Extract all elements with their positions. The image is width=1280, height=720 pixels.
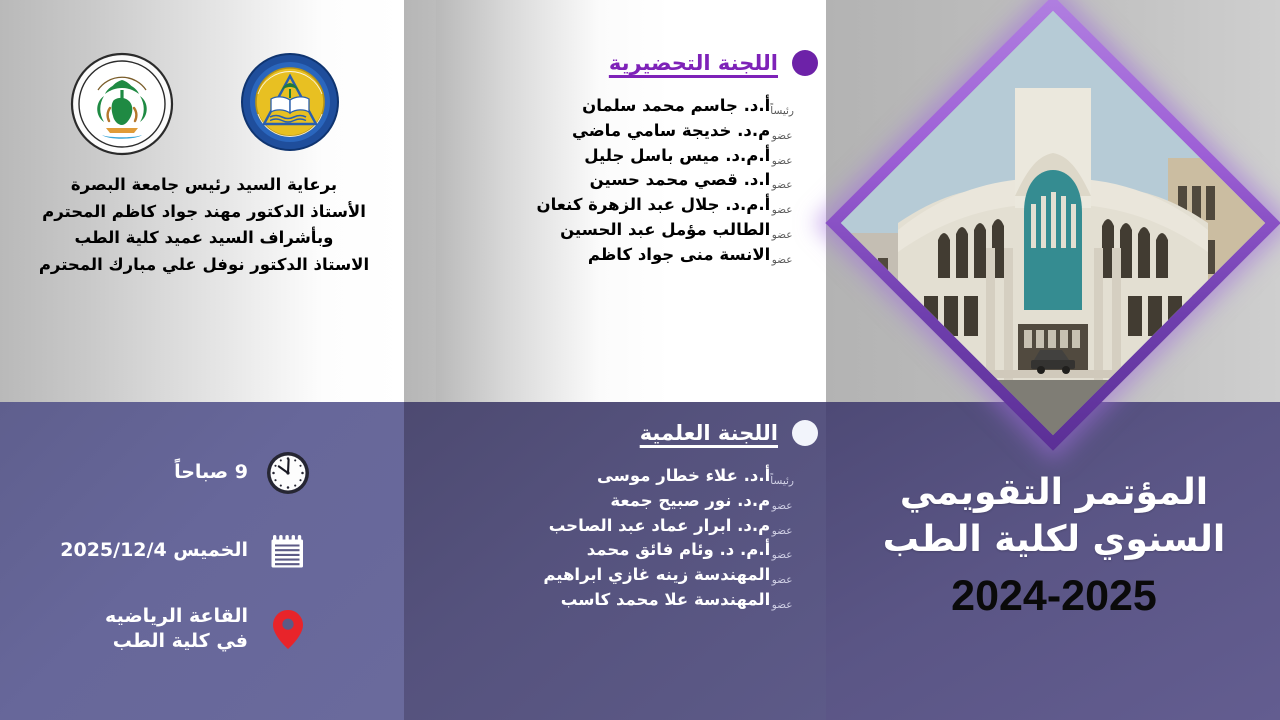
preparatory-names-column: أ.د. جاسم محمد سلمان م.د. خديجة سامي ماض… [537,94,771,267]
role-label: عضو [772,568,793,593]
conference-title-line2: السنوي لكلية الطب [836,517,1272,564]
ministry-of-higher-education-iraq-logo [68,50,176,163]
conference-academic-year: 2024-2025 [836,572,1272,621]
preparatory-committee-title: اللجنة التحضيرية [609,51,778,75]
member-name: أ.م.د. ميس باسل جليل [584,144,770,169]
member-name: ا.د. قصي محمد حسين [590,168,771,193]
member-name: أ.م. د. وئام فائق محمد [587,538,771,563]
member-name: المهندسة علا محمد كاسب [561,588,771,613]
member-name: الطالب مؤمل عبد الحسين [560,218,770,243]
role-label: عضو [772,519,793,544]
college-of-medicine-building-photo [841,11,1265,435]
role-label: عضو [772,543,793,568]
sponsor-line-4: الاستاذ الدكتور نوفل علي مبارك المحترم [8,252,400,279]
role-label: عضو [772,248,793,273]
event-time-line1: 9 صباحاً [174,461,248,483]
sponsor-line-2: الأستاذ الدكتور مهند جواد كاظم المحترم [8,199,400,226]
location-pin-icon [264,605,312,653]
university-of-basrah-logo [238,50,342,159]
scientific-committee-members: رئيساً عضو عضو عضو عضو عضو أ.د. علاء خطا… [448,464,818,618]
member-name: م.د. نور صبيح جمعة [610,489,770,514]
role-label: عضو [772,198,793,223]
hero-photo-diamond [827,0,1279,449]
sponsor-line-1: برعاية السيد رئيس جامعة البصرة [8,172,400,199]
scientific-committee-section: اللجنة العلمية رئيساً عضو عضو عضو عضو عض… [448,420,818,618]
event-date-text: الخميس 2025/12/4 [60,538,248,563]
role-label: عضو [772,223,793,248]
event-location-line1: القاعة الرياضيه [105,604,248,629]
event-time-row: 9 صباحاً [0,448,404,498]
event-location-text: القاعة الرياضيه في كلية الطب [105,604,248,655]
role-label: عضو [772,173,793,198]
event-time-text: 9 صباحاً [174,460,248,485]
event-details: 9 صباحاً [0,448,404,683]
scientific-committee-header: اللجنة العلمية [448,420,818,446]
scientific-names-column: أ.د. علاء خطار موسى م.د. نور صبيح جمعة م… [543,464,770,613]
sponsor-line-3: وبأشراف السيد عميد كلية الطب [8,225,400,252]
member-name: أ.د. علاء خطار موسى [597,464,770,489]
event-location-row: القاعة الرياضيه في كلية الطب [0,604,404,655]
member-name: المهندسة زينه غازي ابراهيم [543,563,770,588]
member-name: أ.م.د. جلال عبد الزهرة كنعان [537,193,771,218]
role-label: عضو [772,593,793,618]
calendar-icon [264,527,312,575]
clock-icon [264,449,312,497]
filled-circle-icon [792,420,818,446]
sponsorship-text: برعاية السيد رئيس جامعة البصرة الأستاذ ا… [8,172,400,279]
member-name: م.د. خديجة سامي ماضي [572,119,770,144]
event-date-line1: الخميس 2025/12/4 [60,539,248,561]
conference-poster: برعاية السيد رئيس جامعة البصرة الأستاذ ا… [0,0,1280,720]
filled-circle-icon [792,50,818,76]
role-label: رئيساً [770,469,794,494]
role-label: عضو [772,149,793,174]
conference-title-line1: المؤتمر التقويمي [836,470,1272,517]
preparatory-committee-members: رئيساً عضو عضو عضو عضو عضو عضو أ.د. جاسم… [448,94,818,272]
panel-gray-divider [404,0,436,402]
main-title-block: المؤتمر التقويمي السنوي لكلية الطب 2024-… [836,470,1272,621]
scientific-committee-title: اللجنة العلمية [640,421,778,445]
scientific-roles-column: رئيساً عضو عضو عضو عضو عضو [770,464,794,618]
preparatory-roles-column: رئيساً عضو عضو عضو عضو عضو عضو [770,94,794,272]
role-label: رئيساً [770,99,794,124]
preparatory-committee-section: اللجنة التحضيرية رئيساً عضو عضو عضو عضو … [448,50,818,272]
role-label: عضو [772,494,793,519]
role-label: عضو [772,124,793,149]
member-name: الانسة منى جواد كاظم [588,243,770,268]
event-date-row: الخميس 2025/12/4 [0,526,404,576]
preparatory-committee-header: اللجنة التحضيرية [448,50,818,76]
logo-row [0,24,404,144]
member-name: م.د. ابرار عماد عبد الصاحب [549,514,771,539]
event-location-line2: في كلية الطب [105,629,248,654]
member-name: أ.د. جاسم محمد سلمان [582,94,770,119]
